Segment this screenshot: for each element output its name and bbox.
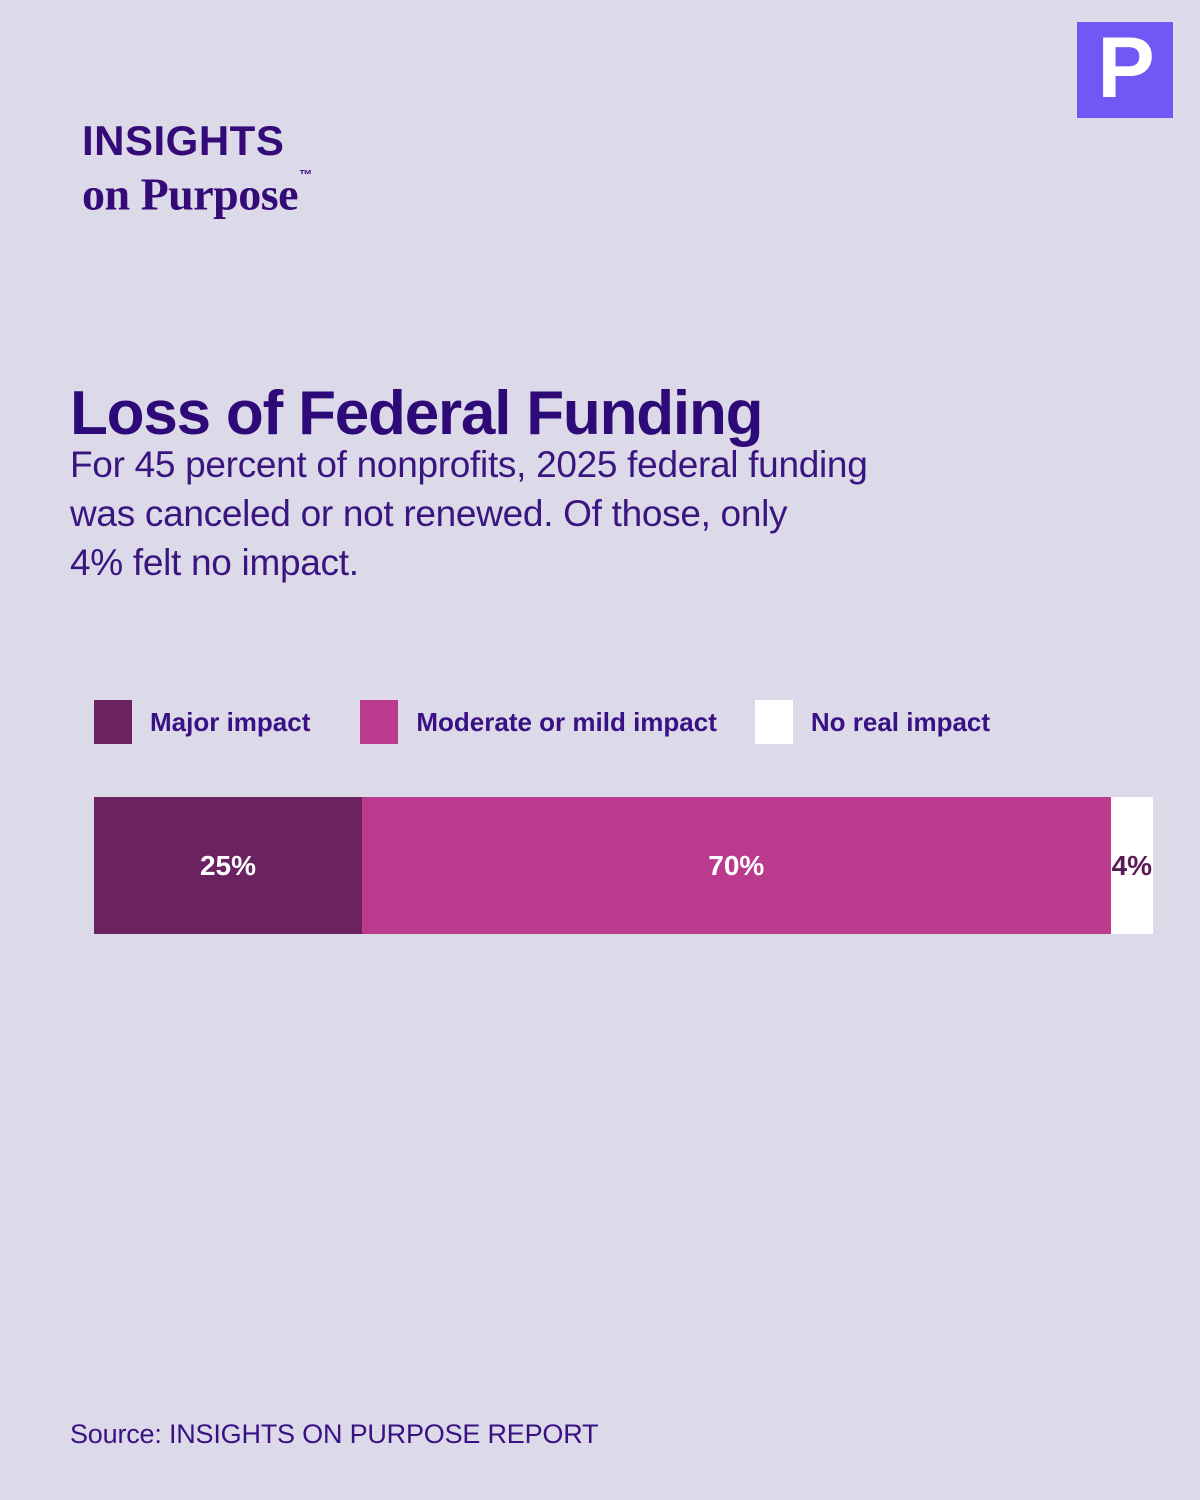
bar-segment-no-impact: 4% bbox=[1111, 797, 1153, 934]
publisher-logo-badge: P bbox=[1077, 22, 1173, 118]
legend-swatch-moderate-impact bbox=[360, 700, 398, 744]
legend-swatch-no-impact bbox=[755, 700, 793, 744]
subtitle-line-1: For 45 percent of nonprofits, 2025 feder… bbox=[70, 440, 1050, 489]
brand-name-insights: INSIGHTS bbox=[82, 118, 311, 164]
page-subtitle: For 45 percent of nonprofits, 2025 feder… bbox=[70, 440, 1050, 587]
chart-legend: Major impact Moderate or mild impact No … bbox=[94, 700, 1154, 744]
bar-value-no-impact: 4% bbox=[1112, 852, 1152, 880]
legend-item-major-impact: Major impact bbox=[94, 700, 310, 744]
subtitle-line-2: was canceled or not renewed. Of those, o… bbox=[70, 489, 1050, 538]
stacked-bar-chart: 25% 70% 4% bbox=[94, 797, 1153, 934]
legend-swatch-major-impact bbox=[94, 700, 132, 744]
legend-label-moderate-impact: Moderate or mild impact bbox=[416, 709, 717, 735]
brand-name-on-purpose: on Purpose™ bbox=[82, 164, 311, 219]
bar-value-moderate-impact: 70% bbox=[708, 852, 764, 880]
bar-value-major-impact: 25% bbox=[200, 852, 256, 880]
legend-label-major-impact: Major impact bbox=[150, 709, 310, 735]
brand-lockup: INSIGHTS on Purpose™ bbox=[82, 118, 311, 219]
brand-name-on-purpose-text: on Purpose bbox=[82, 168, 298, 219]
trademark-symbol: ™ bbox=[299, 167, 312, 182]
bar-segment-major-impact: 25% bbox=[94, 797, 362, 934]
source-caption: Source: INSIGHTS ON PURPOSE REPORT bbox=[70, 1418, 598, 1450]
page-title: Loss of Federal Funding bbox=[70, 380, 1130, 448]
bar-segment-moderate-impact: 70% bbox=[362, 797, 1111, 934]
subtitle-line-3: 4% felt no impact. bbox=[70, 538, 1050, 587]
legend-item-no-impact: No real impact bbox=[755, 700, 990, 744]
legend-label-no-impact: No real impact bbox=[811, 709, 990, 735]
legend-item-moderate-impact: Moderate or mild impact bbox=[360, 700, 717, 744]
publisher-logo-letter: P bbox=[1097, 25, 1152, 111]
